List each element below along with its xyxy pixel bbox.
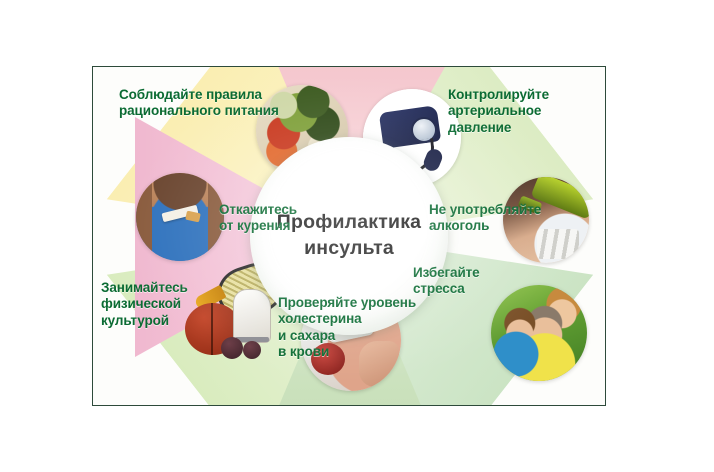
- stroke-prevention-poster: Профилактика инсульта Соблюдайте правила…: [92, 66, 606, 406]
- roller-wheel-2: [243, 341, 261, 359]
- broken-cigarette-photo: [136, 173, 224, 261]
- ball-seam: [211, 303, 213, 355]
- label-cholesterol: Проверяйте уровень холестерина и сахара …: [278, 295, 416, 361]
- skate-boot: [233, 289, 271, 343]
- roller-wheel: [221, 337, 243, 359]
- hand-wrap: [537, 229, 579, 259]
- happy-family-photo: [491, 285, 587, 381]
- label-physical-activity: Занимайтесь физической культурой: [101, 280, 188, 329]
- label-alcohol: Не употребляйте алкоголь: [429, 202, 541, 235]
- label-nutrition: Соблюдайте правила рационального питания: [119, 87, 279, 120]
- label-stress: Избегайте стресса: [413, 265, 480, 298]
- label-blood-pressure: Контролируйте артериальное давление: [448, 87, 605, 136]
- petal-wheel-diagram: Профилактика инсульта Соблюдайте правила…: [93, 67, 605, 405]
- label-smoking: Откажитесь от курения: [219, 202, 297, 235]
